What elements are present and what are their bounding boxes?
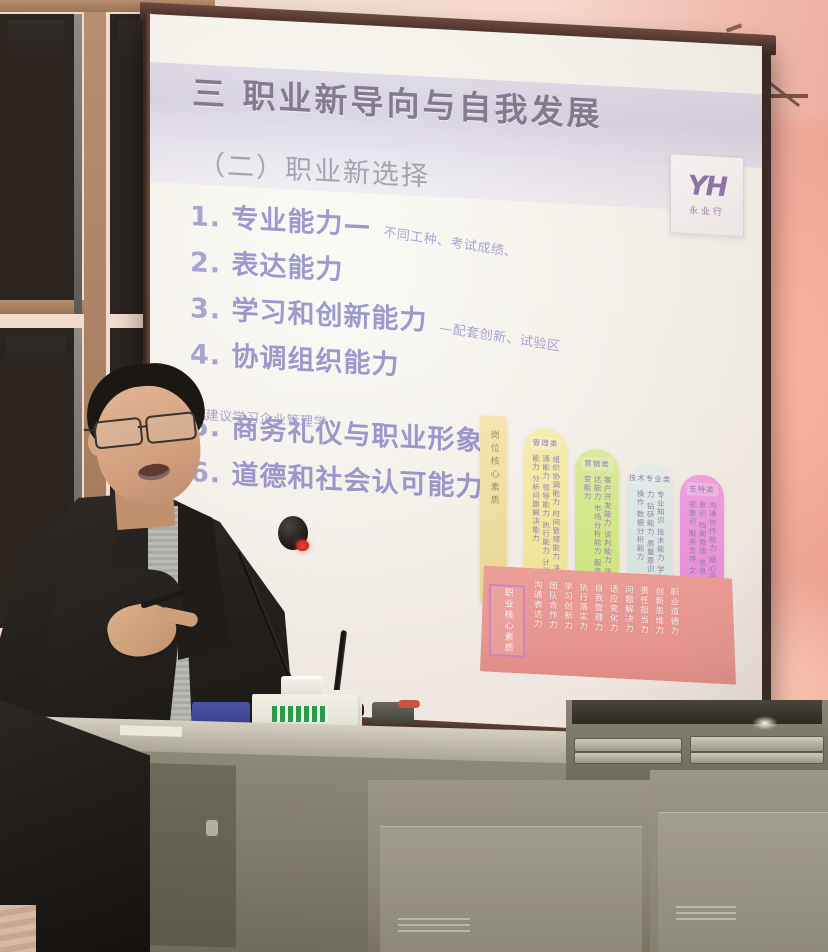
logo-chinese-name: 永业行 bbox=[689, 203, 725, 218]
pillar-header: 技术专业类 bbox=[628, 471, 672, 487]
lecture-photo-scene: 三 职业新导向与自我发展 （二）职业新选择 YH 永业行 1. 专业能力— 不同… bbox=[0, 0, 828, 952]
bullet-number: 2. bbox=[190, 247, 221, 280]
base-item: 适应变化力 bbox=[608, 584, 618, 633]
diagram-base-label-box: 职业核心素质 bbox=[489, 584, 525, 658]
glasses-temple bbox=[84, 429, 96, 432]
cabinet-vent bbox=[676, 918, 736, 920]
rack-slot[interactable] bbox=[690, 752, 824, 764]
base-item: 团队合作力 bbox=[547, 581, 557, 630]
bullet-text: 专业能力— bbox=[231, 203, 371, 241]
paper-sheet bbox=[120, 725, 182, 737]
pillar-header: 支持类 bbox=[686, 482, 718, 497]
lens-right bbox=[145, 411, 198, 444]
rack-slot[interactable] bbox=[574, 738, 682, 752]
pillar-header: 管理类 bbox=[530, 436, 562, 451]
cabinet-vent bbox=[676, 912, 736, 914]
bullet-text: 学习和创新能力 bbox=[231, 295, 427, 336]
av-rack-shadow bbox=[572, 700, 822, 724]
red-clip-object bbox=[398, 700, 420, 708]
logo-mark: YH bbox=[688, 172, 726, 201]
base-item: 学习创新力 bbox=[562, 582, 572, 631]
cabinet-left-door[interactable] bbox=[380, 826, 642, 952]
bullet-number: 3. bbox=[190, 293, 221, 326]
pillar-header: 营销类 bbox=[581, 457, 613, 472]
base-item: 责任担当力 bbox=[638, 586, 648, 635]
rack-slot[interactable] bbox=[574, 752, 682, 764]
company-logo-plate: YH 永业行 bbox=[670, 153, 744, 237]
base-item: 职业道德力 bbox=[669, 587, 679, 636]
base-item: 创新思维力 bbox=[654, 586, 664, 635]
base-item: 沟通表达力 bbox=[532, 580, 542, 629]
base-item: 执行落实力 bbox=[578, 582, 588, 631]
diagram-base-label: 职业核心素质 bbox=[501, 587, 512, 654]
tissue-box-label bbox=[272, 706, 328, 722]
microphone-led-indicator bbox=[296, 540, 309, 551]
podium-knob[interactable] bbox=[206, 820, 218, 836]
base-item: 自我管理力 bbox=[593, 583, 603, 632]
base-item: 问题解决力 bbox=[623, 585, 633, 634]
floor-strip bbox=[0, 905, 36, 952]
bullet-number: 1. bbox=[190, 201, 221, 234]
cabinet-vent bbox=[398, 930, 470, 932]
cabinet-vent bbox=[398, 924, 470, 926]
lens-left bbox=[93, 417, 144, 450]
diagram-base-items: 沟通表达力 团队合作力 学习创新力 执行落实力 自我管理力 适应变化力 问题解决… bbox=[532, 580, 679, 636]
cabinet-vent bbox=[676, 906, 736, 908]
cabinet-right-door[interactable] bbox=[658, 812, 828, 952]
cabinet-vent bbox=[398, 918, 470, 920]
rack-light-glint bbox=[752, 716, 778, 730]
bullet-text: 表达能力 bbox=[231, 249, 343, 286]
competency-pillar-diagram: 岗位核心素质 管理类 组织协调能力 时间管理能力 决策力 沟通能力 领导能力 执… bbox=[480, 369, 750, 713]
rack-slot[interactable] bbox=[690, 736, 824, 752]
